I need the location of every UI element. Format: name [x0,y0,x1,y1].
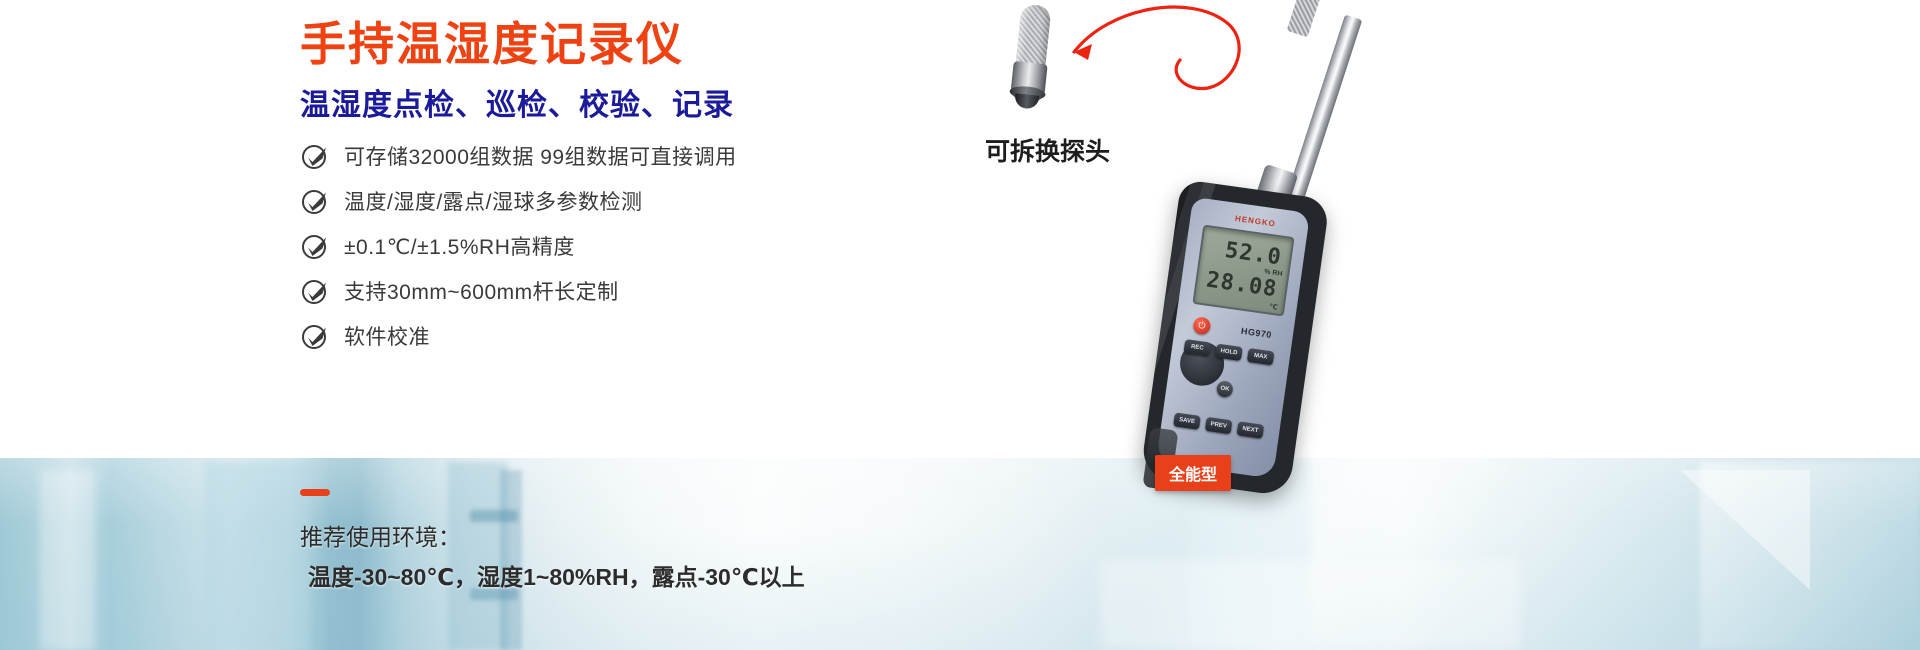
sensor-mesh-tip [1287,0,1324,37]
list-item: 温度/湿度/露点/湿球多参数检测 [300,178,737,223]
key-next[interactable]: NEXT [1236,421,1264,438]
sensor-probe-stem [1286,15,1362,201]
check-circle-icon [300,141,330,171]
list-item-label: 可存储32000组数据 99组数据可直接调用 [344,141,737,171]
environment-detail: 温度-30~80℃，湿度1~80%RH，露点-30℃以上 [308,558,805,592]
page-title: 手持温湿度记录仪 [300,8,684,74]
status-badge: 全能型 [1155,455,1231,491]
feature-list: 可存储32000组数据 99组数据可直接调用 温度/湿度/露点/湿球多参数检测 … [300,133,737,358]
model-label: HG970 [1240,326,1287,344]
white-background-panel [0,0,1920,458]
brand-logo: HENGKO [1230,212,1281,230]
humidity-reading: 52.0 [1209,236,1284,271]
list-item-label: ±0.1℃/±1.5%RH高精度 [344,231,575,261]
check-circle-icon [300,231,330,261]
environment-title: 推荐使用环境： [300,518,461,552]
meter-front-panel: HENGKO 52.0 % RH 28.08 ℃ HG970 REC HOLD … [1156,197,1310,479]
key-ok[interactable]: OK [1216,380,1234,398]
list-item-label: 软件校准 [344,321,430,351]
check-circle-icon [300,276,330,306]
check-circle-icon [300,186,330,216]
list-item: 可存储32000组数据 99组数据可直接调用 [300,133,737,178]
key-max[interactable]: MAX [1247,348,1275,365]
banner-stage: 手持温湿度记录仪 温湿度点检、巡检、校验、记录 可存储32000组数据 99组数… [0,0,1920,650]
key-save[interactable]: SAVE [1173,412,1201,429]
list-item-label: 支持30mm~600mm杆长定制 [344,276,619,306]
list-item-label: 温度/湿度/露点/湿球多参数检测 [344,186,643,216]
probe-connector-tip [1014,93,1039,109]
key-prev[interactable]: PREV [1205,417,1233,434]
list-item: ±0.1℃/±1.5%RH高精度 [300,223,737,268]
section-divider-dash [300,489,330,496]
page-subtitle: 温湿度点检、巡检、校验、记录 [300,80,734,124]
lcd-display: 52.0 % RH 28.08 ℃ [1192,225,1294,317]
meter-body: HENGKO 52.0 % RH 28.08 ℃ HG970 REC HOLD … [1140,179,1330,497]
lab-photo-background [0,458,1920,650]
temperature-unit: ℃ [1269,302,1279,311]
handheld-meter-image: HENGKO 52.0 % RH 28.08 ℃ HG970 REC HOLD … [1090,0,1420,510]
list-item: 支持30mm~600mm杆长定制 [300,268,737,313]
power-button[interactable] [1192,316,1211,335]
list-item: 软件校准 [300,313,737,358]
check-circle-icon [300,321,330,351]
keypad: REC HOLD MAX OK SAVE PREV NEXT [1167,339,1282,467]
